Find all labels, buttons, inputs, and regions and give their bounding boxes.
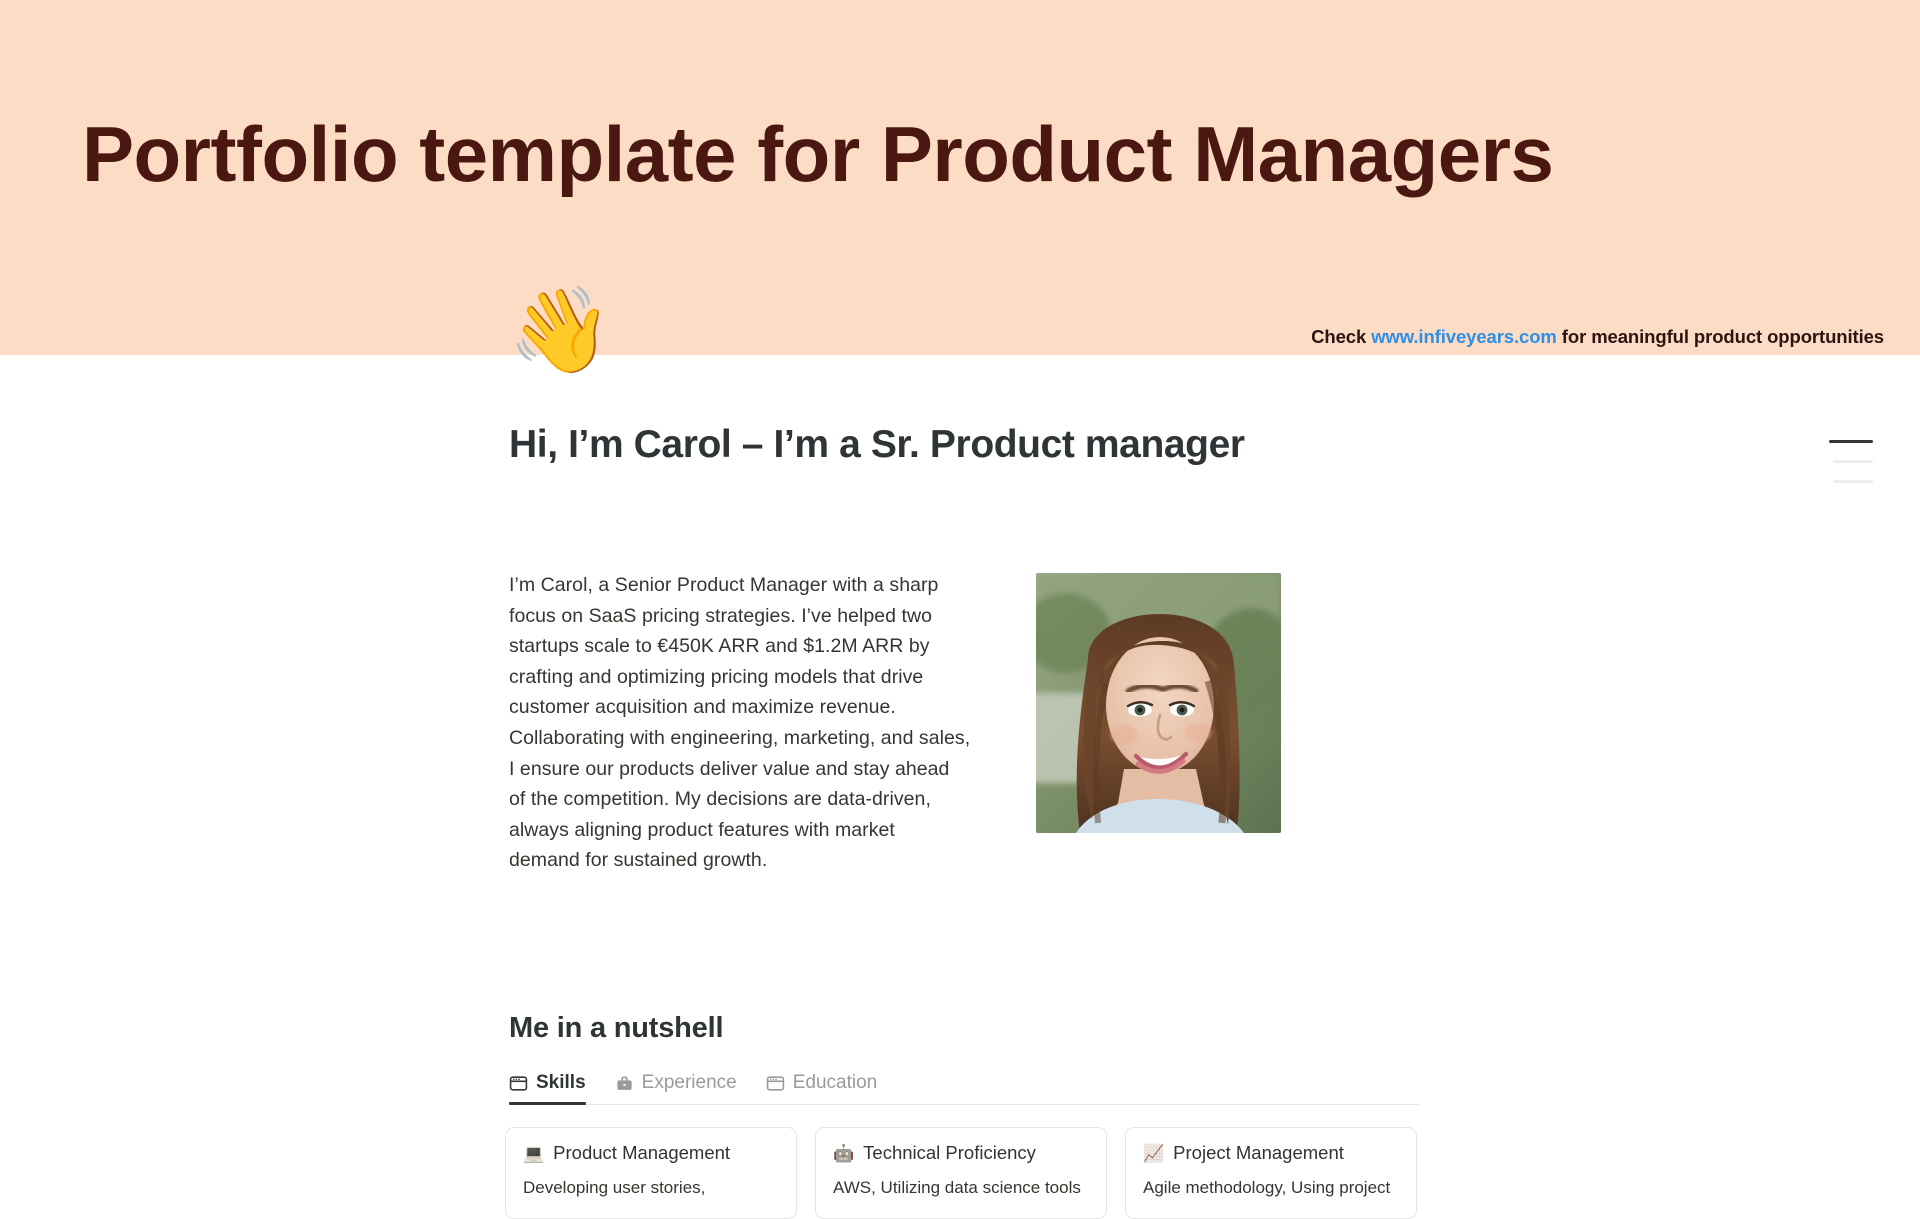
skill-card[interactable]: 🤖 Technical Proficiency AWS, Utilizing d… [815,1127,1107,1219]
skill-card-body: Agile methodology, Using project [1143,1175,1399,1200]
skill-card-title: Project Management [1173,1142,1344,1164]
promo-note: Check www.infiveyears.com for meaningful… [1311,326,1884,348]
skill-card-title: Technical Proficiency [863,1142,1036,1164]
tab-skills-label: Skills [536,1072,586,1094]
toc-line-3[interactable] [1833,480,1873,483]
skill-card-title: Product Management [553,1142,730,1164]
window-icon [766,1074,785,1093]
waving-hand-icon: 👋 [508,288,613,372]
skill-card[interactable]: 💻 Product Management Developing user sto… [505,1127,797,1219]
page-title: Portfolio template for Product Managers [82,112,1842,196]
robot-icon: 🤖 [833,1145,854,1162]
laptop-icon: 💻 [523,1145,544,1162]
chart-increasing-icon: 📈 [1143,1145,1164,1162]
hero-banner: Portfolio template for Product Managers … [0,0,1920,355]
skill-card-header: 📈 Project Management [1143,1142,1399,1164]
page-root: Portfolio template for Product Managers … [0,0,1920,1199]
tab-education-label: Education [793,1072,878,1094]
nutshell-tabs: Skills Experience [509,1063,1419,1105]
skill-card-body: AWS, Utilizing data science tools [833,1175,1089,1200]
toc-line-1[interactable] [1829,440,1873,443]
briefcase-icon [615,1074,634,1093]
intro-paragraph: I’m Carol, a Senior Product Manager with… [509,570,971,876]
promo-link[interactable]: www.infiveyears.com [1371,326,1557,347]
promo-note-prefix: Check [1311,326,1371,347]
tab-experience-label: Experience [642,1072,737,1094]
toc-line-2[interactable] [1833,460,1873,463]
table-of-contents-rail [1829,440,1873,483]
skill-card[interactable]: 📈 Project Management Agile methodology, … [1125,1127,1417,1219]
tab-skills[interactable]: Skills [509,1063,599,1103]
skills-card-list: 💻 Product Management Developing user sto… [505,1127,1417,1219]
window-icon [509,1074,528,1093]
skill-card-body: Developing user stories, [523,1175,779,1200]
nutshell-title: Me in a nutshell [509,1012,723,1045]
intro-heading: Hi, I’m Carol – I’m a Sr. Product manage… [509,420,1299,471]
skill-card-header: 💻 Product Management [523,1142,779,1164]
tab-experience[interactable]: Experience [615,1063,750,1103]
avatar-photo [1036,573,1281,833]
promo-note-suffix: for meaningful product opportunities [1557,326,1884,347]
skill-card-header: 🤖 Technical Proficiency [833,1142,1089,1164]
tab-education[interactable]: Education [766,1063,891,1103]
